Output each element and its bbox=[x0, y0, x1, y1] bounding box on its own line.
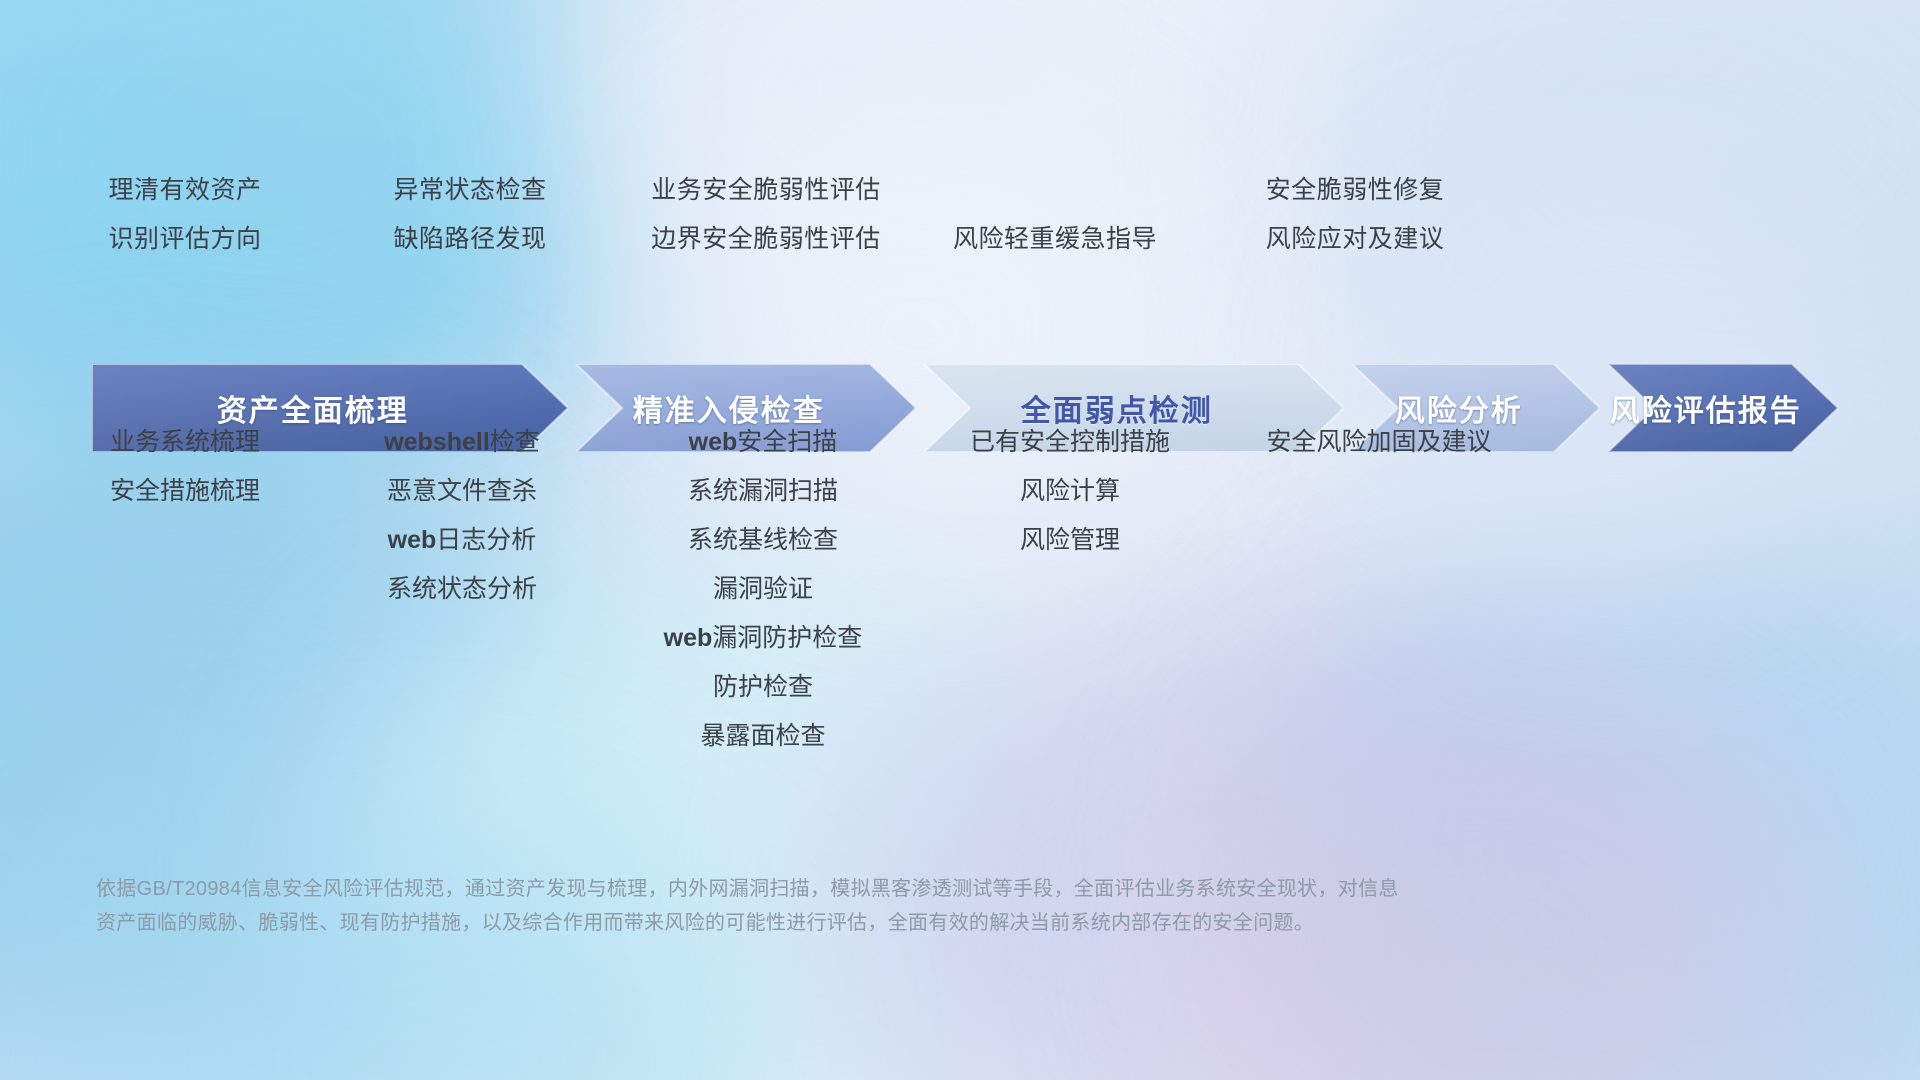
stage-label: 风险分析 bbox=[1395, 386, 1523, 430]
stage-bottom-item: 漏洞验证 bbox=[463, 565, 1063, 614]
stage-label: 风险评估报告 bbox=[1610, 386, 1802, 430]
stage-bottom-item-text: 安全风险加固及建议 bbox=[1266, 428, 1491, 456]
stage-bottom-item: 风险管理 bbox=[770, 516, 1370, 565]
stage-label: 精准入侵检查 bbox=[633, 386, 825, 430]
stage-bottom-item-text: 防护检查 bbox=[713, 673, 813, 701]
stage-bottom-item-text: 风险计算 bbox=[1020, 477, 1120, 505]
stage-bottom-item-keyword: web bbox=[664, 624, 713, 652]
stage-top-list-risk-report: 安全脆弱性修复风险应对及建议 bbox=[1055, 166, 1655, 264]
stage-bottom-item-text: 暴露面检查 bbox=[700, 722, 825, 750]
stage-bottom-item-keyword: web bbox=[388, 526, 437, 554]
stage-bottom-item: web漏洞防护检查 bbox=[463, 614, 1063, 663]
stage-bottom-item: 防护检查 bbox=[463, 663, 1063, 712]
stage-top-item: 安全脆弱性修复 bbox=[1055, 166, 1655, 215]
stage-bottom-item: 暴露面检查 bbox=[463, 712, 1063, 761]
footer-line: 资产面临的威胁、脆弱性、现有防护措施，以及综合作用而带来风险的可能性进行评估，全… bbox=[96, 906, 1656, 940]
stage-bottom-item-text: 漏洞防护检查 bbox=[712, 624, 862, 652]
stage-label: 全面弱点检测 bbox=[1021, 386, 1213, 430]
stage-top-item: 业务安全脆弱性评估 bbox=[466, 166, 1066, 215]
footer-line: 依据GB/T20984信息安全风险评估规范，通过资产发现与梳理，内外网漏洞扫描，… bbox=[96, 872, 1656, 906]
process-diagram: 理清有效资产识别评估方向异常状态检查缺陷路径发现业务安全脆弱性评估边界安全脆弱性… bbox=[0, 0, 1920, 1080]
stage-bottom-item-keyword: web bbox=[689, 428, 738, 456]
stage-bottom-item-text: 漏洞验证 bbox=[713, 575, 813, 603]
stage-bottom-item-text: 风险管理 bbox=[1020, 526, 1120, 554]
stage-bottom-item: 风险计算 bbox=[770, 467, 1370, 516]
footer-description: 依据GB/T20984信息安全风险评估规范，通过资产发现与梳理，内外网漏洞扫描，… bbox=[96, 872, 1656, 940]
stage-top-item: 风险应对及建议 bbox=[1055, 215, 1655, 264]
stage-label: 资产全面梳理 bbox=[217, 386, 409, 430]
